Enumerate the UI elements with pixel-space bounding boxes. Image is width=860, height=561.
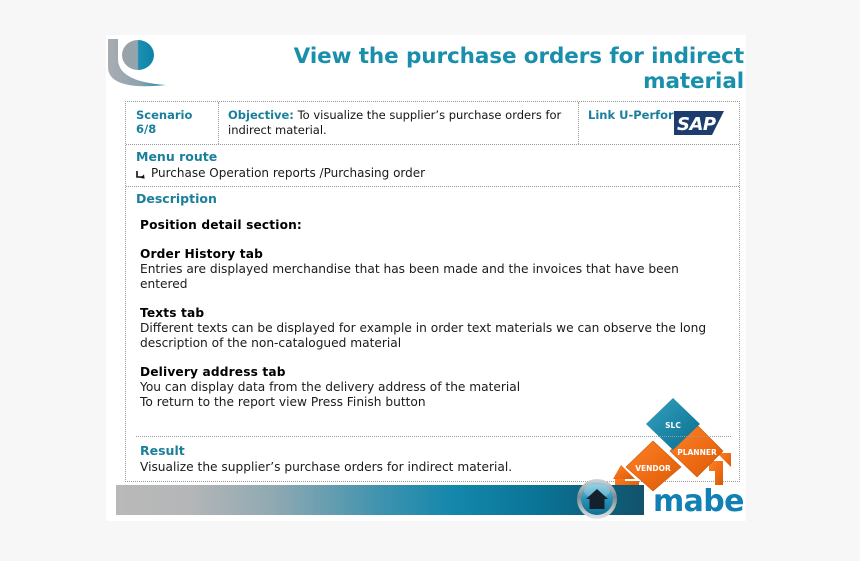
description-cell: Description Position detail section: Ord… xyxy=(126,187,739,481)
scenario-cell: Scenario 6/8 xyxy=(126,102,219,144)
scenario-label: Scenario xyxy=(136,108,218,122)
block-heading-order-history: Order History tab xyxy=(140,246,720,262)
block-heading-delivery-address: Delivery address tab xyxy=(140,364,720,380)
arrow-down-right-icon xyxy=(136,169,147,180)
page-title-line2: material xyxy=(264,69,744,94)
menu-route-path: Purchase Operation reports /Purchasing o… xyxy=(151,165,425,181)
block-heading-texts: Texts tab xyxy=(140,305,720,321)
block-line-order-history-0: Entries are displayed merchandise that h… xyxy=(140,262,720,292)
table-row-description: Description Position detail section: Ord… xyxy=(126,187,739,481)
slide-footer: mabe xyxy=(106,479,746,521)
result-block: Result Visualize the supplier’s purchase… xyxy=(140,443,512,475)
content-table: Scenario 6/8 Objective: To visualize the… xyxy=(125,101,740,482)
result-heading: Result xyxy=(140,443,512,459)
sap-logo-icon[interactable]: SAP xyxy=(674,111,724,135)
svg-text:SAP: SAP xyxy=(677,114,716,135)
objective-label: Objective: xyxy=(228,108,294,122)
mabe-wordmark: mabe xyxy=(653,484,744,519)
menu-route-heading: Menu route xyxy=(136,149,739,165)
scenario-value: 6/8 xyxy=(136,122,218,136)
roles-diamonds-diagram: VENDOR PLANNER SLC xyxy=(613,393,733,493)
block-line-texts-1: description of the non-catalogued materi… xyxy=(140,336,720,351)
menu-route-cell: Menu route Purchase Operation reports /P… xyxy=(126,145,739,186)
page-title-line1: View the purchase orders for indirect xyxy=(264,44,744,69)
slide-header: View the purchase orders for indirect ma… xyxy=(106,35,746,101)
table-row-menu-route: Menu route Purchase Operation reports /P… xyxy=(126,145,739,187)
page-title: View the purchase orders for indirect ma… xyxy=(264,44,744,94)
description-heading: Description xyxy=(136,191,739,207)
objective-cell: Objective: To visualize the supplier’s p… xyxy=(219,102,579,144)
result-separator xyxy=(136,436,731,437)
home-button[interactable] xyxy=(576,478,618,520)
diamond-vendor-label: VENDOR xyxy=(635,464,671,473)
result-text: Visualize the supplier’s purchase orders… xyxy=(140,459,512,475)
table-row-header: Scenario 6/8 Objective: To visualize the… xyxy=(126,102,739,145)
block-heading-position: Position detail section: xyxy=(140,217,720,233)
menu-route-path-row: Purchase Operation reports /Purchasing o… xyxy=(136,165,739,181)
diamond-planner-label: PLANNER xyxy=(677,448,717,457)
link-uperform-cell[interactable]: Link U-Perform: SAP xyxy=(579,102,739,144)
mabe-swoosh-logo xyxy=(106,37,180,97)
slide-sheet: View the purchase orders for indirect ma… xyxy=(106,35,746,521)
diamond-slc-label: SLC xyxy=(665,421,681,430)
footer-gradient-bar xyxy=(116,485,644,515)
block-line-texts-0: Different texts can be displayed for exa… xyxy=(140,321,720,336)
description-body: Position detail section: Order History t… xyxy=(136,207,720,410)
